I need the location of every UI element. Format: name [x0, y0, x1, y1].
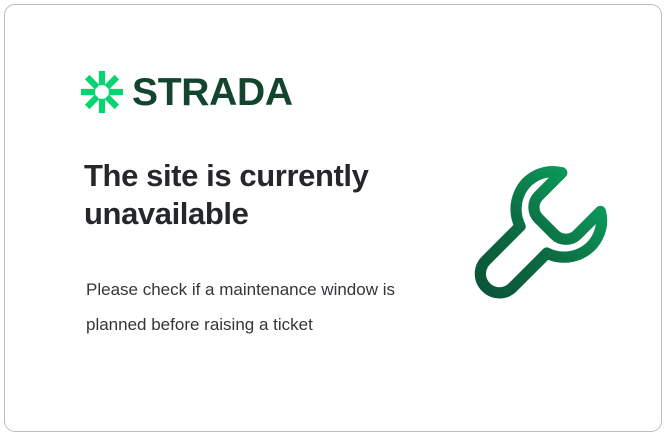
error-page: STRADA The site is currently unavailable…	[0, 0, 666, 436]
brand-lockup: STRADA	[81, 71, 293, 113]
strada-asterisk-icon	[81, 71, 123, 113]
status-card: STRADA The site is currently unavailable…	[4, 4, 662, 432]
page-title: The site is currently unavailable	[84, 157, 424, 234]
wrench-icon	[465, 160, 615, 310]
page-description: Please check if a maintenance window is …	[86, 273, 396, 343]
brand-wordmark: STRADA	[132, 73, 293, 112]
